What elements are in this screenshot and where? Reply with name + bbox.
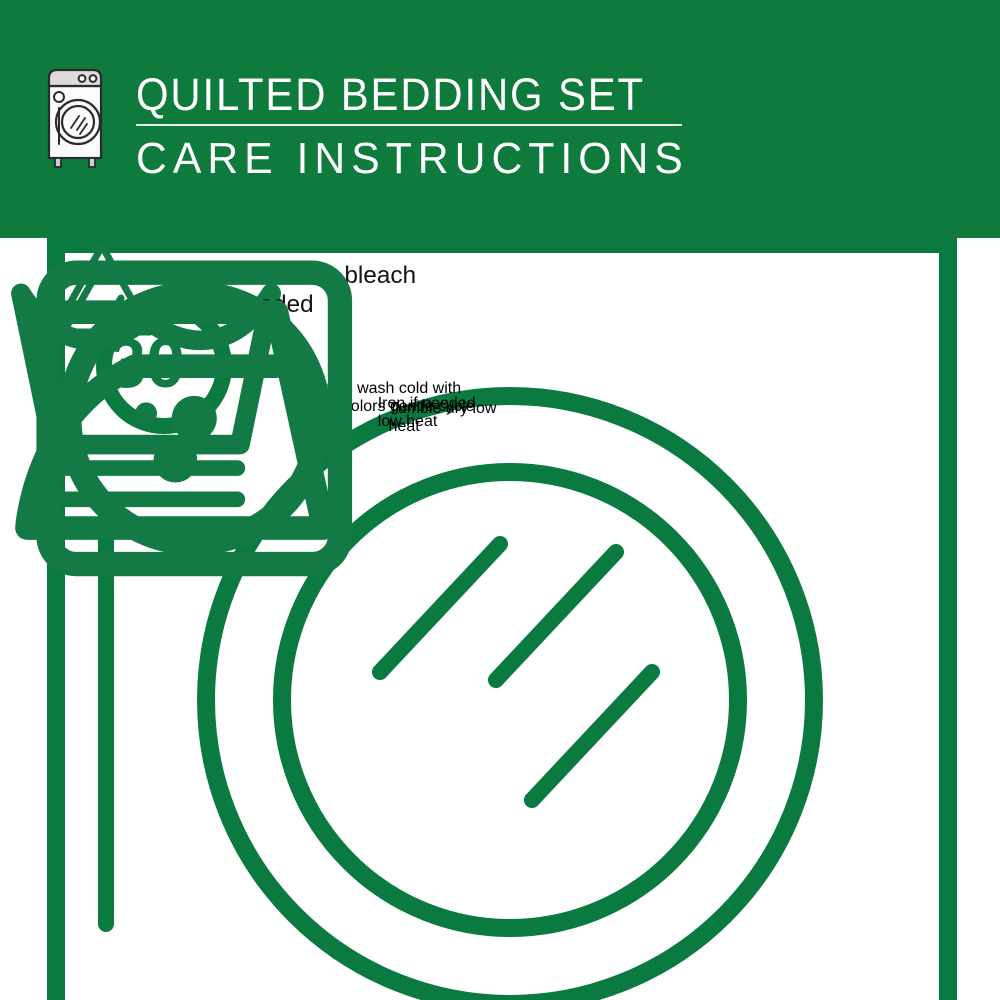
care-line: low heat <box>378 413 438 430</box>
header-washing-machine-icon <box>44 66 112 170</box>
care-instructions-infographic: QUILTED BEDDING SET CARE INSTRUCTIONS 30… <box>0 0 1000 1000</box>
care-line: Iron if needed <box>378 395 476 412</box>
title-divider <box>136 124 682 126</box>
care-instruction-list: 30 Machine wash cold with similar colors… <box>0 238 500 1000</box>
iron-low-heat-icon <box>0 238 378 589</box>
low-heat-dot <box>153 439 197 483</box>
header-title-group: QUILTED BEDDING SET CARE INSTRUCTIONS <box>136 70 736 184</box>
header-banner: QUILTED BEDDING SET CARE INSTRUCTIONS <box>0 0 1000 238</box>
page-subtitle: CARE INSTRUCTIONS <box>136 134 718 184</box>
page-title: QUILTED BEDDING SET <box>136 70 694 120</box>
care-text-iron: Iron if needed low heat <box>378 395 500 431</box>
care-row-iron: Iron if needed low heat <box>0 238 500 589</box>
